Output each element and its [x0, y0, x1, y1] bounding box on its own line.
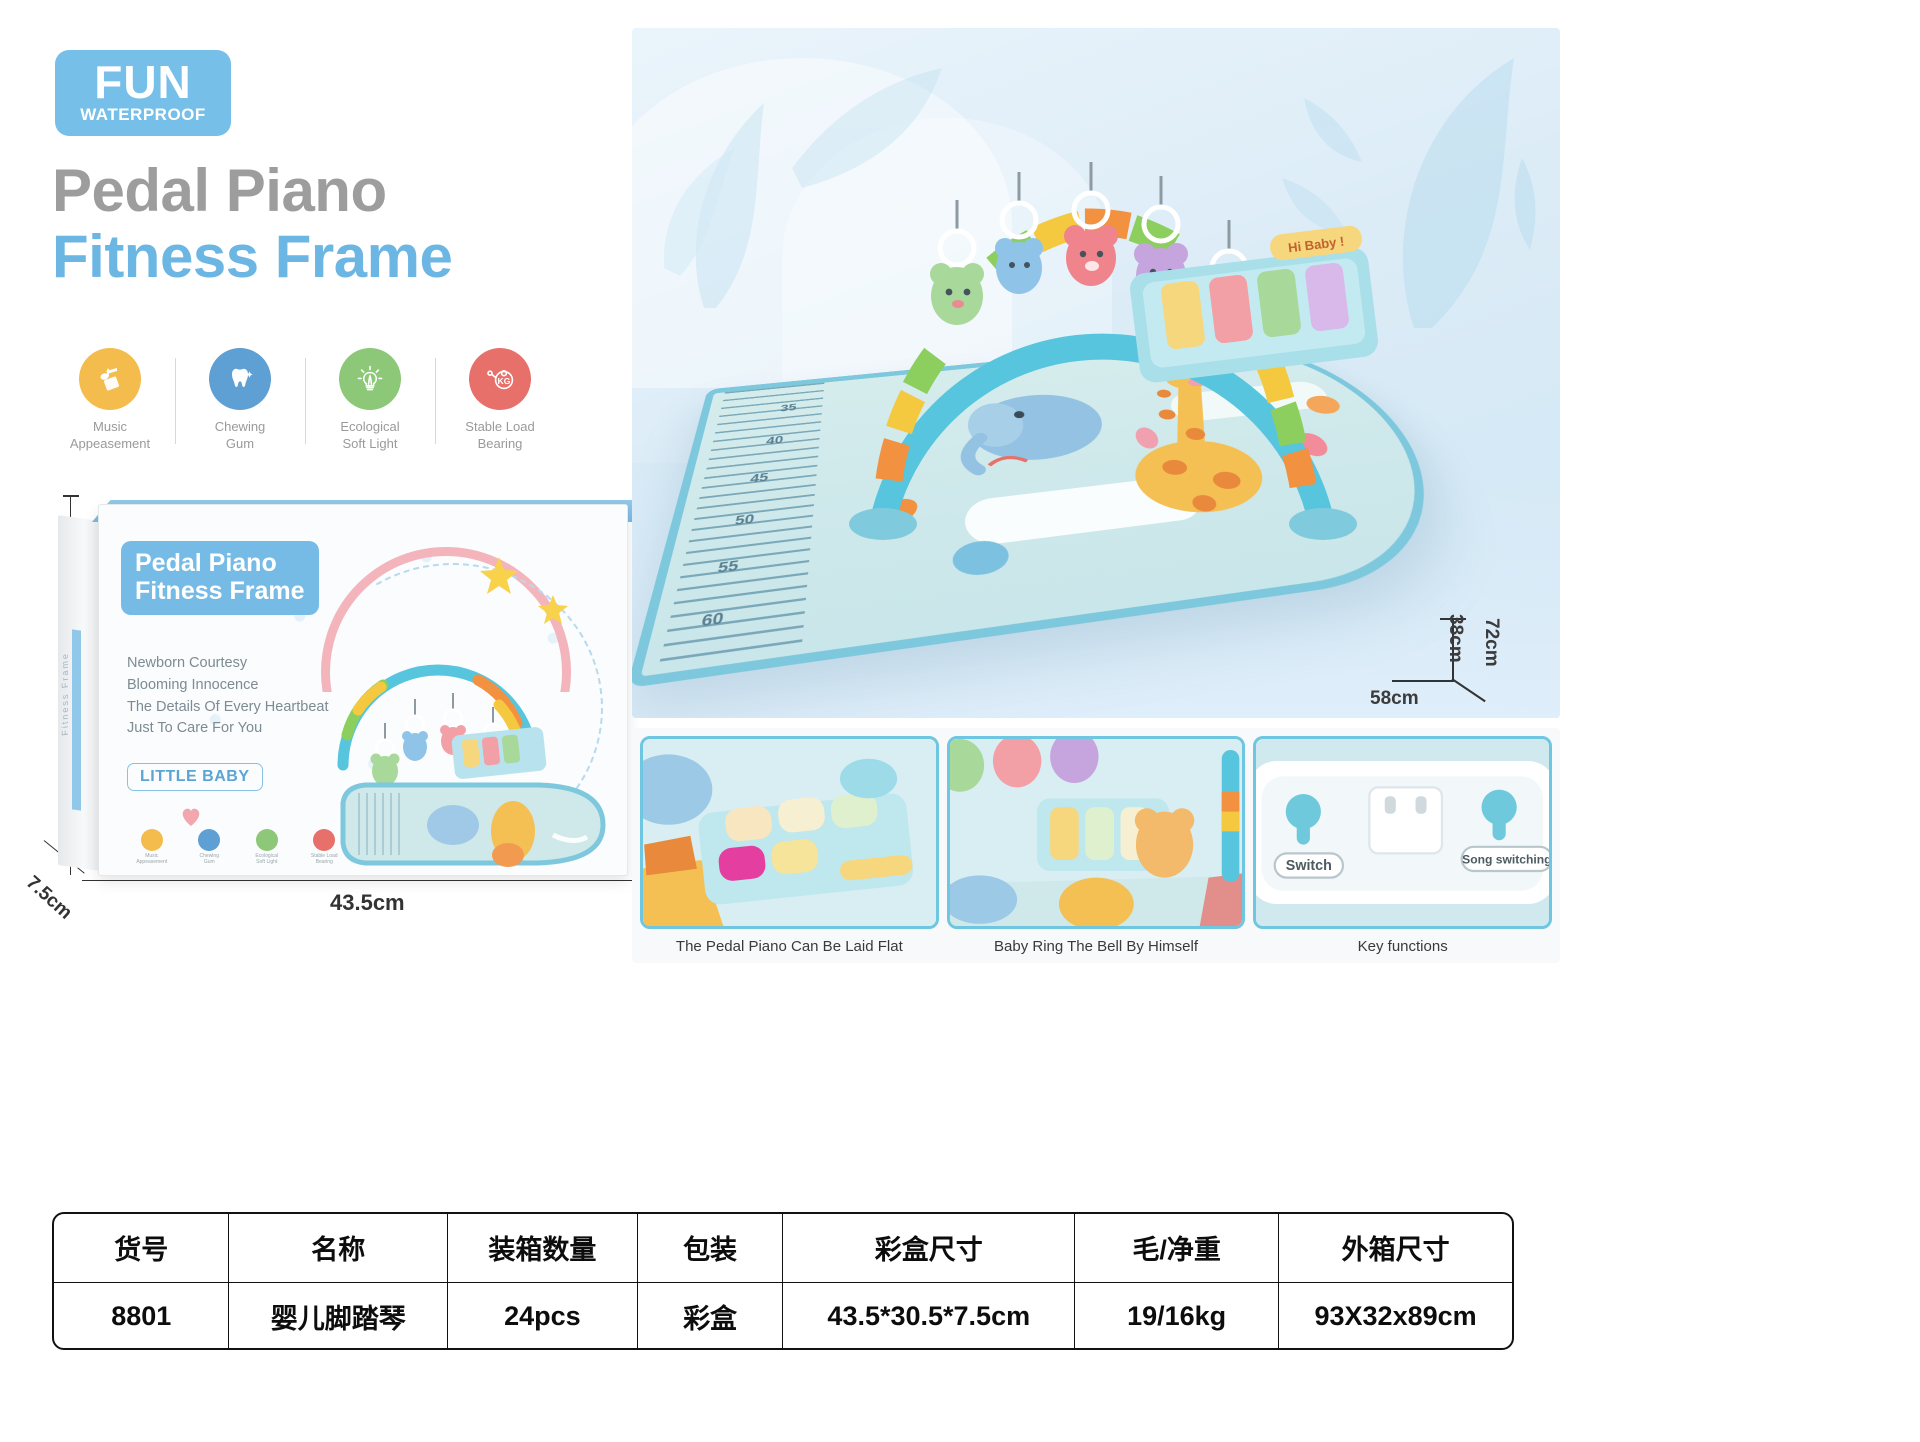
detail-thumbnail-strip: The Pedal Piano Can Be Laid Flat: [632, 728, 1560, 963]
retail-package-box: Fitness Frame: [58, 500, 628, 882]
spec-table-header-row: 货号 名称 装箱数量 包装 彩盒尺寸 毛/净重 外箱尺寸: [54, 1214, 1512, 1282]
feature-list: Music Appeasement Chewing Gum: [45, 348, 565, 468]
box-slogan: Newborn Courtesy Blooming Innocence The …: [127, 653, 328, 740]
box-mini-label-load: Stable Load Bearing: [311, 853, 338, 865]
spec-table-element: 货号 名称 装箱数量 包装 彩盒尺寸 毛/净重 外箱尺寸 8801 婴儿脚踏琴 …: [54, 1214, 1512, 1350]
spec-value-box-size: 43.5*30.5*7.5cm: [783, 1282, 1075, 1350]
box-title-line2: Fitness Frame: [135, 577, 305, 605]
feature-chewing-label: Chewing Gum: [215, 419, 266, 453]
hero-width-dimension: 58cm: [1370, 688, 1419, 710]
box-mini-feature-music: Music Appeasement: [123, 829, 181, 865]
pink-heart-icon: [179, 805, 203, 827]
feature-soft-light: Ecological Soft Light: [305, 348, 435, 468]
feature-load-bearing-label: Stable Load Bearing: [465, 419, 534, 453]
ruler-mark-35: 35: [780, 401, 798, 413]
hanging-toy-red-bear: [1064, 225, 1118, 286]
box-title-line1: Pedal Piano: [135, 549, 305, 577]
page-title-line1: Pedal Piano: [52, 160, 387, 221]
thumbnail-ring-bell[interactable]: Baby Ring The Bell By Himself: [947, 736, 1246, 955]
switch-label: Switch: [1286, 858, 1332, 874]
spec-header-name: 名称: [229, 1214, 448, 1282]
hero-product-image: 35 40 45 50 55 60: [632, 28, 1560, 718]
thumbnail-key-functions-image[interactable]: Switch Song switching: [1253, 736, 1552, 929]
feature-chewing: Chewing Gum: [175, 348, 305, 468]
ruler-mark-60: 60: [700, 608, 725, 630]
weight-kg-icon-small: [313, 829, 335, 851]
box-front-face: Pedal Piano Fitness Frame Newborn Courte…: [98, 504, 628, 876]
box-slogan-line4: Just To Care For You: [127, 718, 328, 740]
water-drop-icon: [951, 538, 1011, 578]
box-side-text: Fitness Frame: [60, 647, 100, 736]
package-box-illustration: 30.5cm 43.5cm 7.5cm Fitness Frame: [30, 480, 630, 950]
tooth-icon: [209, 348, 271, 410]
box-title-chip: Pedal Piano Fitness Frame: [121, 541, 319, 615]
specification-table: 货号 名称 装箱数量 包装 彩盒尺寸 毛/净重 外箱尺寸 8801 婴儿脚踏琴 …: [52, 1212, 1514, 1350]
weight-kg-icon: KG: [469, 348, 531, 410]
thumbnail-lay-flat-caption: The Pedal Piano Can Be Laid Flat: [640, 929, 939, 955]
thumbnail-key-functions[interactable]: Switch Song switching Key functions: [1253, 736, 1552, 955]
spec-value-weight: 19/16kg: [1075, 1282, 1279, 1350]
spec-value-qty: 24pcs: [448, 1282, 638, 1350]
spec-value-packing: 彩盒: [637, 1282, 783, 1350]
spec-header-weight: 毛/净重: [1075, 1214, 1279, 1282]
thumbnail-ring-bell-image[interactable]: [947, 736, 1246, 929]
feature-soft-light-label: Ecological Soft Light: [340, 419, 399, 453]
box-slogan-line2: Blooming Innocence: [127, 675, 328, 697]
arch-foot-right: [1289, 508, 1357, 540]
page-title-line2: Fitness Frame: [52, 226, 452, 287]
box-mini-label-light: Ecological Soft Light: [255, 853, 278, 865]
thumbnail-lay-flat[interactable]: The Pedal Piano Can Be Laid Flat: [640, 736, 939, 955]
piano-console: Hi Baby !: [1120, 224, 1420, 414]
spec-value-carton-size: 93X32x89cm: [1279, 1282, 1512, 1350]
box-mini-label-music: Music Appeasement: [136, 853, 167, 865]
thumbnail-key-functions-caption: Key functions: [1253, 929, 1552, 955]
spec-header-qty: 装箱数量: [448, 1214, 638, 1282]
feature-music: Music Appeasement: [45, 348, 175, 468]
spec-table-body: 8801 婴儿脚踏琴 24pcs 彩盒 43.5*30.5*7.5cm 19/1…: [54, 1282, 1512, 1350]
badge-fun-text: FUN: [94, 61, 192, 105]
hero-depth-dimension: 72cm: [1480, 618, 1502, 667]
hero-dim-line-horizontal: [1392, 680, 1454, 682]
spec-header-packing: 包装: [637, 1214, 783, 1282]
box-mini-feature-load: Stable Load Bearing: [296, 829, 354, 865]
product-marketing-sheet: FUN WATERPROOF Pedal Piano Fitness Frame: [0, 0, 1920, 1442]
left-info-panel: FUN WATERPROOF Pedal Piano Fitness Frame: [0, 0, 630, 1180]
box-slogan-line1: Newborn Courtesy: [127, 653, 328, 675]
little-baby-badge: LITTLE BABY: [127, 763, 263, 791]
music-note-icon-small: [141, 829, 163, 851]
ruler-mark-45: 45: [749, 470, 769, 485]
box-mini-feature-chewing: Chewing Gum: [181, 829, 239, 865]
hanging-toy-blue-bear: [995, 238, 1043, 294]
ruler-mark-40: 40: [765, 433, 784, 447]
box-width-dimension: 43.5cm: [330, 890, 405, 916]
svg-text:KG: KG: [498, 376, 511, 386]
arch-foot-left: [849, 508, 917, 540]
lightbulb-icon-small: [256, 829, 278, 851]
ruler-mark-55: 55: [716, 557, 739, 576]
thumbnail-ring-bell-caption: Baby Ring The Bell By Himself: [947, 929, 1246, 955]
hero-height-dimension: 38cm: [1444, 614, 1466, 663]
box-mini-label-chewing: Chewing Gum: [200, 853, 219, 865]
music-note-icon: [79, 348, 141, 410]
thumbnail-lay-flat-image[interactable]: [640, 736, 939, 929]
spec-table-head: 货号 名称 装箱数量 包装 彩盒尺寸 毛/净重 外箱尺寸: [54, 1214, 1512, 1282]
badge-waterproof-text: WATERPROOF: [80, 105, 206, 125]
hanging-toy-frog: [930, 263, 984, 325]
feature-load-bearing: KG Stable Load Bearing: [435, 348, 565, 468]
spec-value-item-no: 8801: [54, 1282, 229, 1350]
dimension-tick-top: [63, 495, 79, 497]
box-mini-feature-row: Music Appeasement Chewing Gum: [123, 829, 353, 865]
table-row: 8801 婴儿脚踏琴 24pcs 彩盒 43.5*30.5*7.5cm 19/1…: [54, 1282, 1512, 1350]
box-slogan-line3: The Details Of Every Heartbeat: [127, 697, 328, 719]
box-mini-feature-light: Ecological Soft Light: [238, 829, 296, 865]
spec-header-box-size: 彩盒尺寸: [783, 1214, 1075, 1282]
fun-waterproof-badge: FUN WATERPROOF: [55, 50, 231, 136]
feature-music-label: Music Appeasement: [70, 419, 150, 453]
spec-header-carton-size: 外箱尺寸: [1279, 1214, 1512, 1282]
box-product-artwork: [303, 535, 628, 876]
spec-header-item-no: 货号: [54, 1214, 229, 1282]
tooth-icon-small: [198, 829, 220, 851]
lightbulb-icon: [339, 348, 401, 410]
spec-value-name: 婴儿脚踏琴: [229, 1282, 448, 1350]
song-switching-label: Song switching: [1463, 852, 1550, 866]
ruler-mark-50: 50: [734, 511, 756, 528]
